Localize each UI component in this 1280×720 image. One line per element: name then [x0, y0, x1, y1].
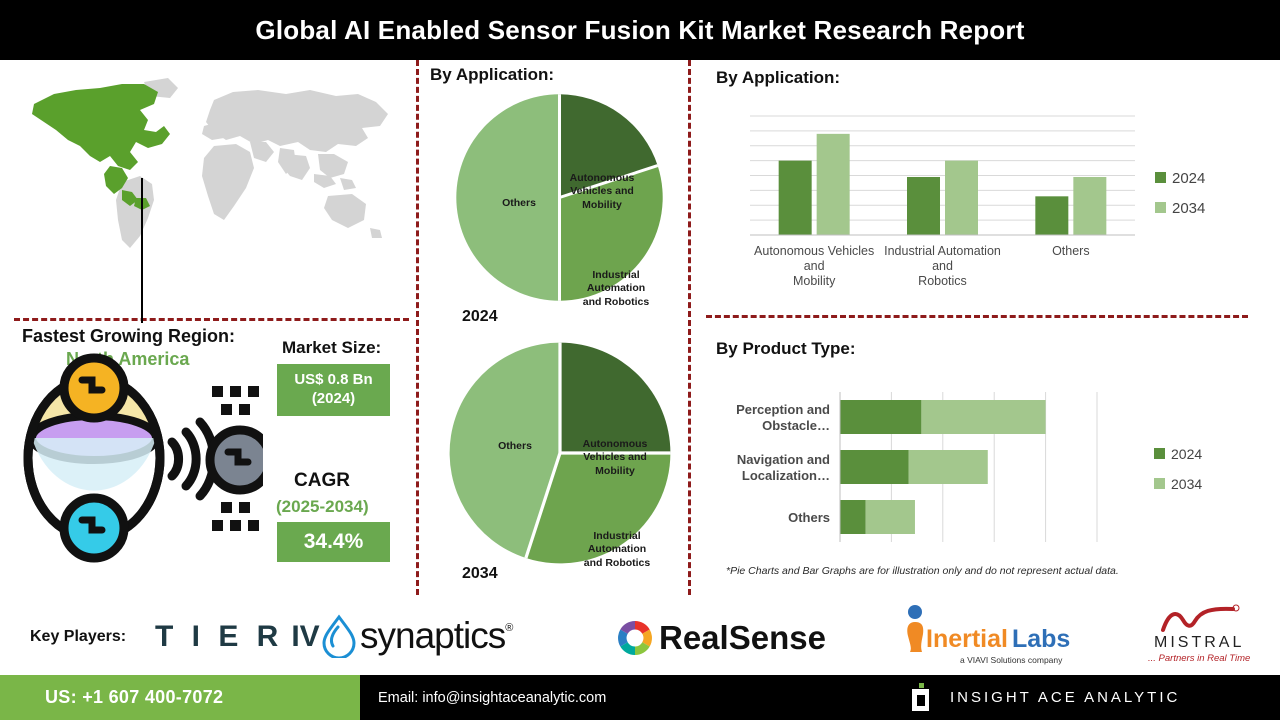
bar-category-label: Others	[1052, 244, 1090, 258]
market-size-badge: US$ 0.8 Bn (2024)	[277, 364, 390, 416]
logo-mistral-text: MISTRAL	[1154, 634, 1244, 652]
synaptics-droplet-icon	[318, 614, 360, 658]
bar-2034	[1073, 177, 1106, 235]
charts-footnote: *Pie Charts and Bar Graphs are for illus…	[726, 565, 1119, 577]
cagr-title: CAGR	[294, 470, 350, 492]
logo-synaptics-trademark: ®	[505, 622, 513, 634]
logo-tier-iv-text-b: IV	[291, 620, 319, 654]
bar-2034	[945, 161, 978, 235]
hbar-2034	[909, 450, 988, 484]
market-size-year: (2024)	[312, 390, 355, 409]
logo-inertial-labs-text-b: Labs	[1012, 625, 1070, 654]
logo-inertial-labs: Inertial Labs a VIAVI Solutions company	[900, 604, 1070, 665]
sensor-fusion-icon	[8, 350, 263, 565]
footer-brand: INSIGHT ACE ANALYTIC	[910, 675, 1180, 720]
legend-swatch-2034	[1155, 202, 1166, 213]
cagr-badge: 34.4%	[277, 522, 390, 562]
pie-2024-year: 2024	[462, 308, 498, 326]
footer-phone-block: US: +1 607 400-7072	[0, 675, 360, 720]
logo-synaptics: synaptics ®	[318, 614, 513, 658]
market-size-value: US$ 0.8 Bn	[294, 371, 372, 390]
logo-synaptics-text: synaptics	[360, 615, 505, 657]
vertical-divider-1	[416, 60, 419, 595]
fastest-growing-region-label: Fastest Growing Region:	[22, 326, 235, 347]
vertical-divider-2	[688, 60, 691, 595]
pie-2034-label-autonomous: Autonomous Vehicles and Mobility	[566, 438, 664, 478]
mistral-swoosh-icon	[1157, 604, 1241, 634]
pie-2024-label-autonomous: Autonomous Vehicles and Mobility	[556, 172, 648, 212]
hbar-category-label: Others	[788, 510, 830, 525]
hbar-category-label: Obstacle…	[762, 418, 830, 433]
logo-realsense-text: RealSense	[659, 619, 826, 657]
footer-bar: US: +1 607 400-7072 Email: info@insighta…	[0, 675, 1280, 720]
bar-2024	[907, 177, 940, 235]
pie-2034-label-industrial: Industrial Automation and Robotics	[568, 530, 666, 570]
realsense-aperture-icon	[615, 618, 655, 658]
hbar-2024	[840, 500, 866, 534]
hbar-category-label: Navigation and	[737, 452, 830, 467]
bar-category-label: Autonomous Vehicles	[754, 244, 874, 258]
map-pointer-line	[141, 178, 143, 323]
legend-swatch-2034	[1154, 478, 1165, 489]
infographic-page: Global AI Enabled Sensor Fusion Kit Mark…	[0, 0, 1280, 720]
market-size-title: Market Size:	[282, 338, 381, 358]
bar-category-label: Mobility	[793, 274, 836, 288]
pie-2024-label-others: Others	[488, 197, 550, 210]
bar-chart-by-application: Autonomous VehiclesandMobilityIndustrial…	[740, 110, 1230, 295]
hbar-2024	[840, 400, 921, 434]
bar-category-label: Industrial Automation	[884, 244, 1001, 258]
footer-brand-name: INSIGHT ACE ANALYTIC	[950, 689, 1180, 706]
bar-2024	[1035, 196, 1068, 235]
key-players-label: Key Players:	[30, 628, 126, 646]
hbar-2034	[866, 500, 915, 534]
legend-label-2024: 2024	[1171, 446, 1202, 462]
bar-category-label: Robotics	[918, 274, 967, 288]
hbar-category-label: Localization…	[742, 468, 830, 483]
bar-category-label: and	[804, 259, 825, 273]
legend-swatch-2024	[1155, 172, 1166, 183]
pie-2024-label-industrial: Industrial Automation and Robotics	[570, 269, 662, 309]
logo-mistral-tagline: ... Partners in Real Time	[1148, 653, 1250, 664]
logo-realsense: RealSense	[615, 618, 826, 658]
footer-phone: US: +1 607 400-7072	[0, 687, 223, 708]
legend-swatch-2024	[1154, 448, 1165, 459]
pie-2034-label-others: Others	[484, 440, 546, 453]
page-title: Global AI Enabled Sensor Fusion Kit Mark…	[255, 15, 1024, 46]
logo-mistral: MISTRAL ... Partners in Real Time	[1148, 604, 1250, 664]
logo-tier-iv: T I E R IV	[155, 620, 320, 654]
cagr-years: (2025-2034)	[276, 497, 369, 517]
right-application-title: By Application:	[716, 68, 840, 88]
logo-tier-iv-text-a: T I E R	[155, 620, 283, 654]
right-product-title: By Product Type:	[716, 339, 855, 359]
horizontal-divider-left	[14, 318, 409, 321]
horizontal-divider-right	[706, 315, 1248, 318]
insight-ace-logo-mark	[910, 683, 936, 713]
legend-label-2024: 2024	[1172, 170, 1205, 187]
hbar-category-label: Perception and	[736, 402, 830, 417]
middle-application-title: By Application:	[430, 65, 554, 85]
pie-2034-year: 2034	[462, 565, 498, 583]
bar-2024	[779, 161, 812, 235]
cagr-value: 34.4%	[304, 529, 364, 555]
hbar-2034	[921, 400, 1045, 434]
logo-inertial-labs-text-a: Inertial	[926, 625, 1008, 654]
bar-chart-by-product-type: Perception andObstacle…Navigation andLoc…	[712, 380, 1232, 580]
header-bar: Global AI Enabled Sensor Fusion Kit Mark…	[0, 0, 1280, 60]
legend-label-2034: 2034	[1172, 200, 1205, 217]
footer-email: Email: info@insightaceanalytic.com	[378, 675, 606, 720]
world-map-icon	[18, 70, 408, 255]
bar-category-label: and	[932, 259, 953, 273]
hbar-2024	[840, 450, 909, 484]
bar-2034	[817, 134, 850, 235]
logo-inertial-labs-subtitle: a VIAVI Solutions company	[960, 655, 1062, 665]
legend-label-2034: 2034	[1171, 476, 1202, 492]
body-area: Fastest Growing Region: North America	[0, 60, 1280, 595]
